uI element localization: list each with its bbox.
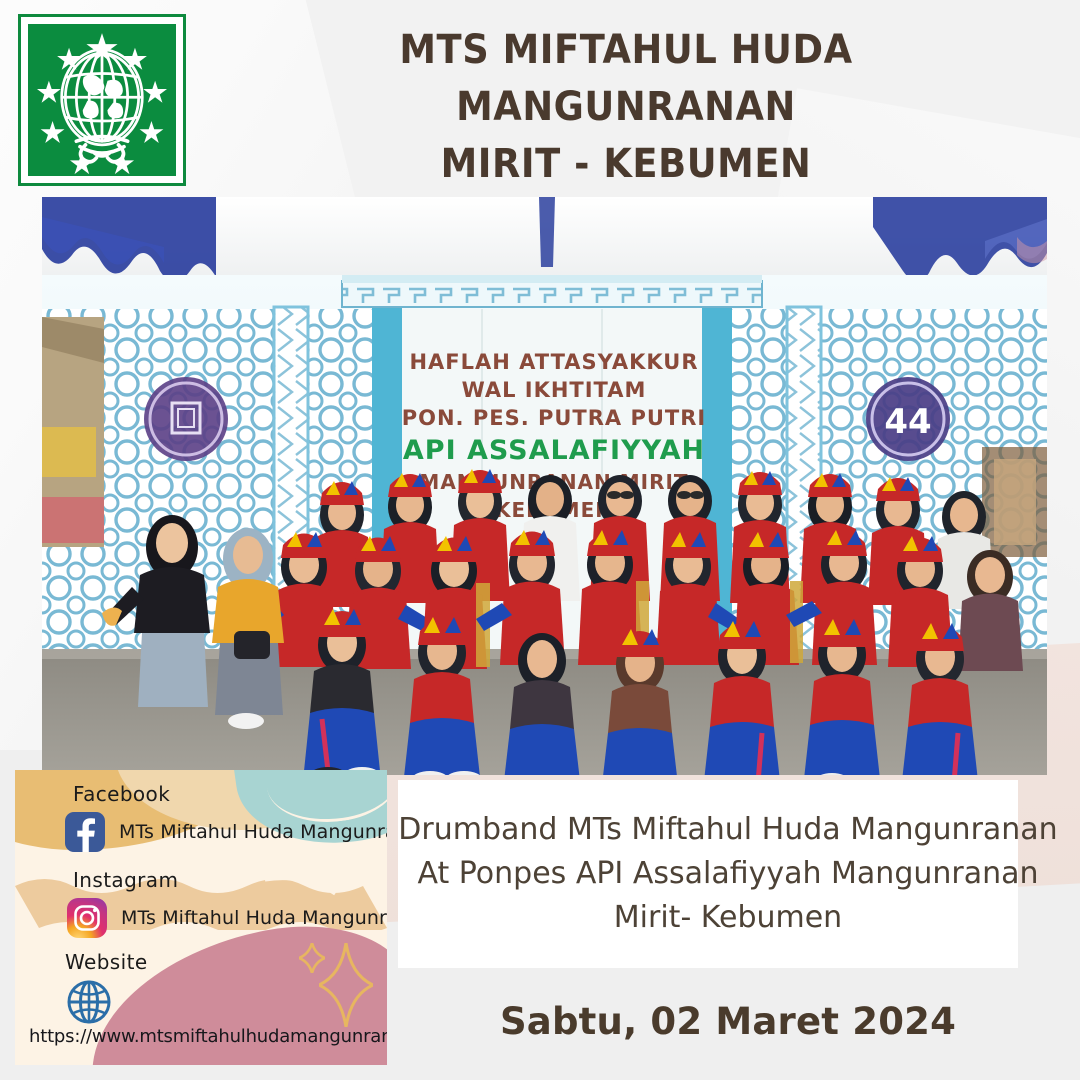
globe-icon[interactable] — [65, 978, 113, 1026]
facebook-icon[interactable] — [65, 812, 105, 852]
instagram-handle: MTs Miftahul Huda Mangunranan — [121, 907, 387, 929]
facebook-row[interactable]: MTs Miftahul Huda Mangunranan — [65, 812, 387, 852]
social-media-card: Facebook MTs Miftahul Huda Mangunranan I… — [15, 770, 387, 1065]
poster-header: MTS MIFTAHUL HUDA MANGUNRANAN MIRIT - KE… — [0, 0, 1080, 197]
school-title-line1: MTS MIFTAHUL HUDA MANGUNRANAN — [399, 27, 852, 130]
facebook-label: Facebook — [73, 782, 170, 806]
facebook-handle: MTs Miftahul Huda Mangunranan — [119, 821, 387, 843]
instagram-row[interactable]: MTs Miftahul Huda Mangunranan — [67, 898, 387, 938]
school-title-line2: MIRIT - KEBUMEN — [230, 136, 1021, 193]
page-title: MTS MIFTAHUL HUDA MANGUNRANAN MIRIT - KE… — [230, 22, 1021, 192]
event-photo: 44 HAFLAH ATTASYAKKUR WAL IKHTITAM PON. … — [42, 197, 1047, 775]
caption-line-2: At Ponpes API Assalafiyyah Mangunranan — [398, 852, 1058, 896]
school-logo — [18, 14, 186, 186]
instagram-label: Instagram — [73, 868, 178, 892]
website-row[interactable] — [65, 978, 127, 1026]
caption-line-3: Mirit- Kebumen — [398, 896, 1058, 940]
sparkle-large-icon — [319, 943, 373, 1027]
poster-canvas: MTS MIFTAHUL HUDA MANGUNRANAN MIRIT - KE… — [0, 0, 1080, 1080]
caption-line-1: Drumband MTs Miftahul Huda Mangunranan — [398, 808, 1058, 852]
nahdlatul-ulama-logo-icon — [26, 22, 178, 178]
instagram-icon[interactable] — [67, 898, 107, 938]
website-label: Website — [65, 950, 148, 974]
caption-text: Drumband MTs Miftahul Huda Mangunranan A… — [398, 808, 1058, 940]
event-date: Sabtu, 02 Maret 2024 — [398, 1000, 1058, 1043]
website-url[interactable]: https://www.mtsmiftahulhudamangunranan.s… — [29, 1026, 379, 1047]
